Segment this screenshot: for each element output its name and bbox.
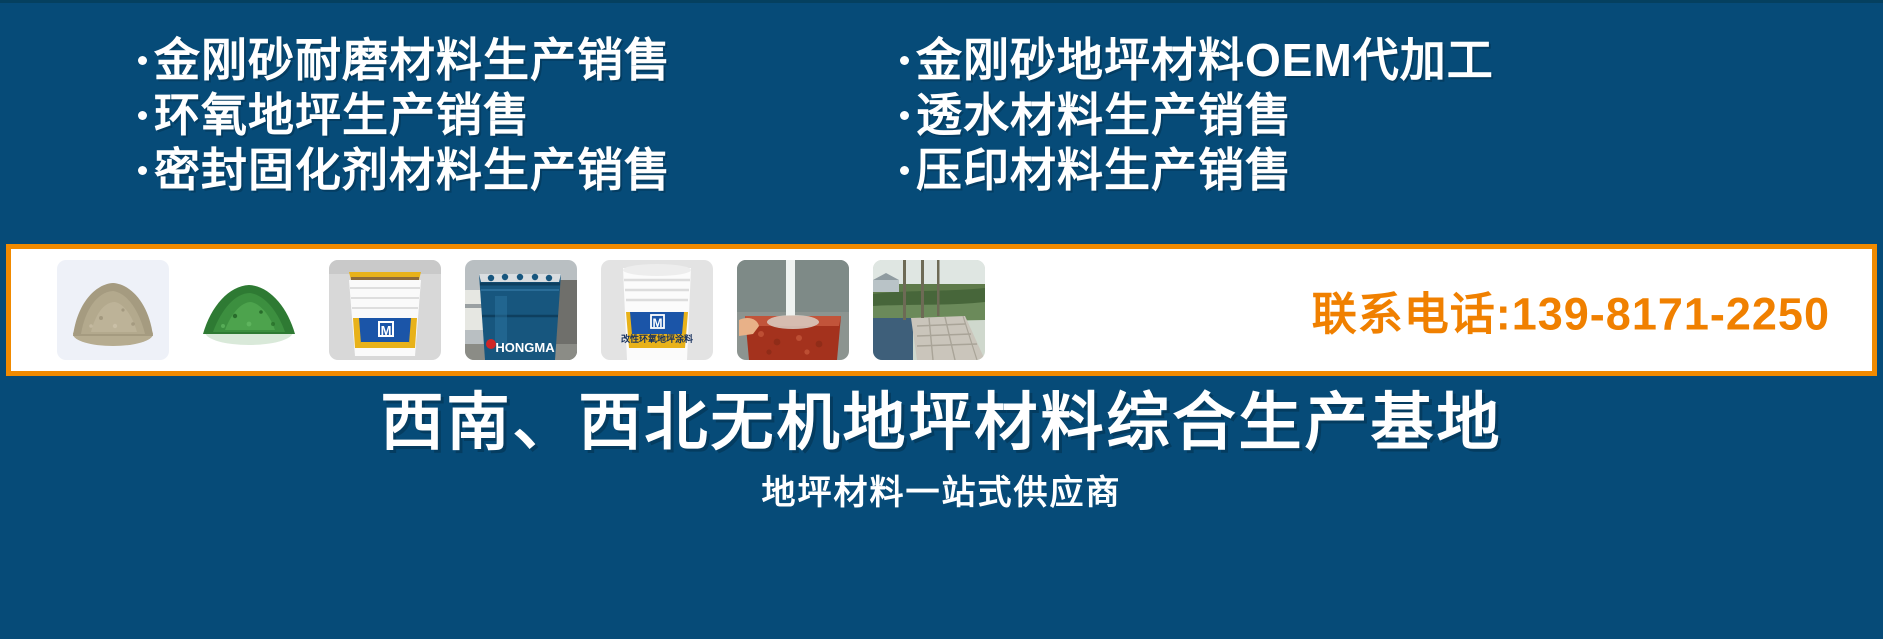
svg-text:M: M [653,316,663,330]
service-bullet-lists: 金刚砂耐磨材料生产销售 环氧地坪生产销售 密封固化剂材料生产销售 金刚砂地坪材料… [0,33,1883,233]
service-item-label: 金刚砂地坪材料OEM代加工 [916,33,1494,88]
service-list-right: 金刚砂地坪材料OEM代加工 透水材料生产销售 压印材料生产销售 [880,33,1883,233]
service-item: 金刚砂地坪材料OEM代加工 [900,33,1883,88]
epoxy-bucket-image: M 改性环氧地坪涂料 [601,260,713,360]
service-item-label: 压印材料生产销售 [916,143,1292,198]
walkway-image [873,260,985,360]
svg-text:HONGMA: HONGMA [495,340,555,355]
product-thumb-concrete-sealer-bucket[interactable]: M [329,260,441,360]
banner-headline: 西南、西北无机地坪材料综合生产基地 [0,388,1883,458]
bullet-dot-icon [138,166,147,175]
product-strip: M [6,244,1877,376]
bullet-dot-icon [900,56,909,65]
promo-banner: 金刚砂耐磨材料生产销售 环氧地坪生产销售 密封固化剂材料生产销售 金刚砂地坪材料… [0,0,1883,639]
service-item: 透水材料生产销售 [900,88,1883,143]
service-item-label: 金刚砂耐磨材料生产销售 [154,33,671,88]
product-thumb-gray-abrasive-powder[interactable] [57,260,169,360]
bullet-dot-icon [138,56,147,65]
product-thumb-hongma-blue-drum[interactable]: HONGMA [465,260,577,360]
hongma-drum-image: HONGMA [465,260,577,360]
product-thumbnail-row: M [11,249,985,371]
contact-phone[interactable]: 联系电话:139-8171-2250 [1312,278,1830,343]
product-thumb-paved-walkway[interactable] [873,260,985,360]
green-powder-image [193,260,305,360]
bullet-dot-icon [138,111,147,120]
gray-powder-image [57,260,169,360]
product-thumb-green-abrasive-powder[interactable] [193,260,305,360]
service-item-label: 密封固化剂材料生产销售 [154,143,671,198]
permeable-sample-image [737,260,849,360]
product-thumb-epoxy-coating-bucket[interactable]: M 改性环氧地坪涂料 [601,260,713,360]
service-item: 金刚砂耐磨材料生产销售 [138,33,880,88]
svg-text:改性环氧地坪涂料: 改性环氧地坪涂料 [621,333,693,345]
service-item-label: 透水材料生产销售 [916,88,1292,143]
svg-text:M: M [381,323,392,338]
service-item: 密封固化剂材料生产销售 [138,143,880,198]
sealer-bucket-image: M [329,260,441,360]
product-thumb-permeable-red-sample[interactable] [737,260,849,360]
bullet-dot-icon [900,166,909,175]
service-item: 压印材料生产销售 [900,143,1883,198]
service-item: 环氧地坪生产销售 [138,88,880,143]
banner-subheadline: 地坪材料一站式供应商 [0,465,1883,514]
service-item-label: 环氧地坪生产销售 [154,88,530,143]
bullet-dot-icon [900,111,909,120]
service-list-left: 金刚砂耐磨材料生产销售 环氧地坪生产销售 密封固化剂材料生产销售 [0,33,880,233]
